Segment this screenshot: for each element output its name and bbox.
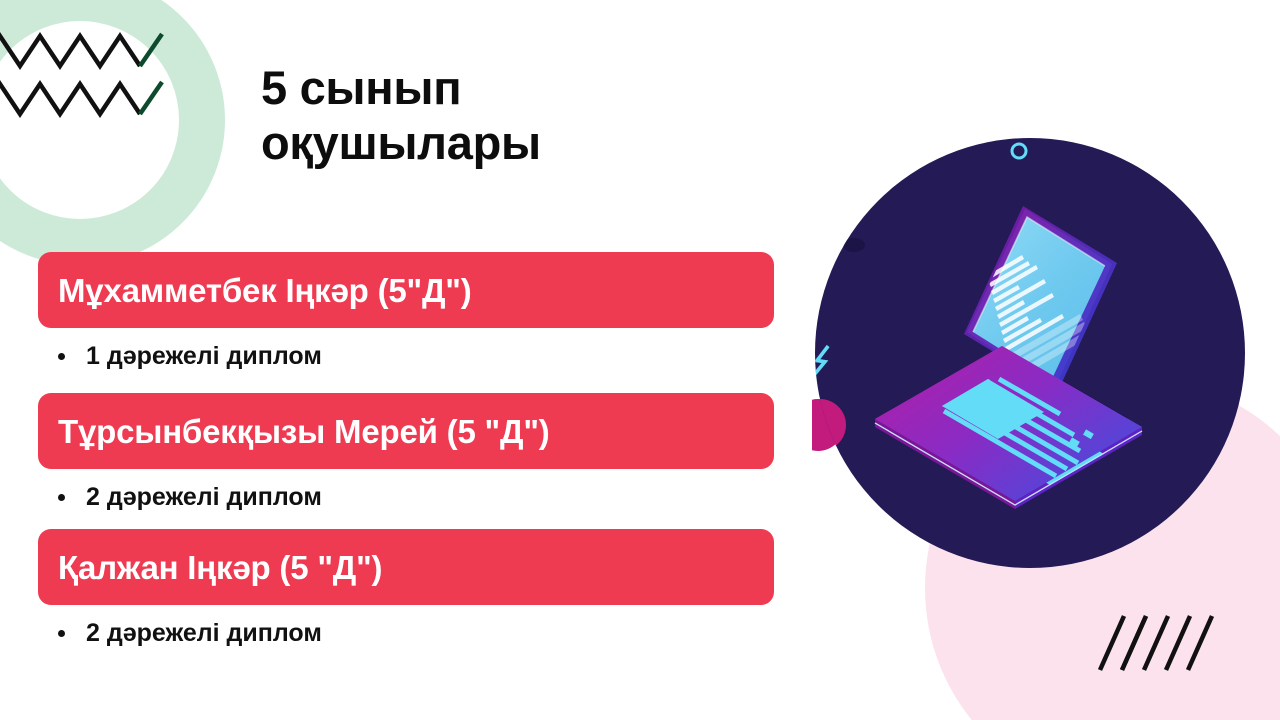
zigzag-lines-decoration [0,18,207,118]
isometric-laptop-illustration [812,135,1248,571]
slide-canvas: 5 сынып оқушылары Мұхамметбек Іңкәр (5"Д… [0,0,1280,720]
page-title: 5 сынып оқушылары [261,60,741,171]
bullet-dot-icon [58,630,65,637]
award-label: 1 дәрежелі диплом [86,344,322,369]
student-name-banner[interactable]: Тұрсынбекқызы Мерей (5 "Д") [38,393,774,469]
award-list: Мұхамметбек Іңкәр (5"Д") 1 дәрежелі дипл… [38,252,774,661]
award-item: 1 дәрежелі диплом [38,328,774,384]
award-item: 2 дәрежелі диплом [38,605,774,661]
student-name-label: Мұхамметбек Іңкәр (5"Д") [58,274,472,307]
award-item: 2 дәрежелі диплом [38,469,774,525]
award-label: 2 дәрежелі диплом [86,485,322,510]
diagonal-slashes-decoration [1090,612,1220,674]
mint-ring-decoration [0,0,225,265]
student-name-label: Тұрсынбекқызы Мерей (5 "Д") [58,415,550,448]
student-name-banner[interactable]: Мұхамметбек Іңкәр (5"Д") [38,252,774,328]
student-name-label: Қалжан Іңкәр (5 "Д") [58,551,382,584]
bullet-dot-icon [58,353,65,360]
student-name-banner[interactable]: Қалжан Іңкәр (5 "Д") [38,529,774,605]
award-label: 2 дәрежелі диплом [86,621,322,646]
bullet-dot-icon [58,494,65,501]
